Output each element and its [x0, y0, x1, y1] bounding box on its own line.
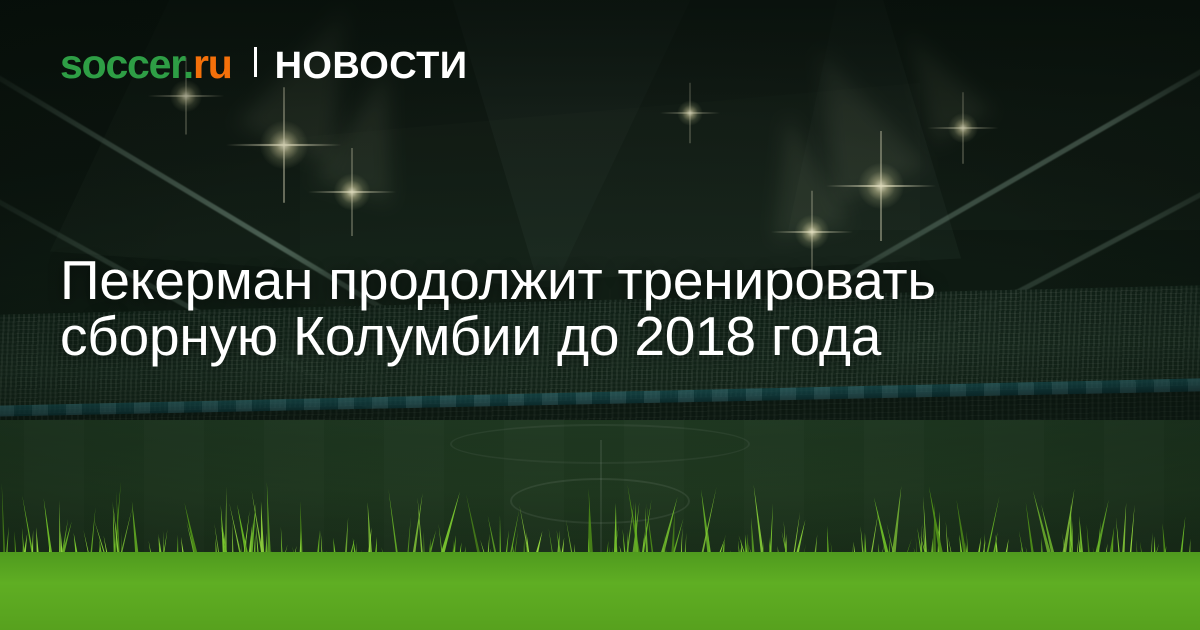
header-divider [254, 47, 257, 77]
news-share-card: soccer.ru НОВОСТИ Пекерман продолжит тре… [0, 0, 1200, 630]
site-header: soccer.ru НОВОСТИ [60, 44, 467, 85]
logo-dot-text: . [183, 41, 193, 87]
headline-line-1: Пекерман продолжит тренировать [60, 252, 1070, 308]
headline-line-2: сборную Колумбии до 2018 года [60, 308, 1070, 364]
article-headline: Пекерман продолжит тренировать сборную К… [60, 252, 1070, 364]
logo-name-text: soccer [60, 41, 183, 87]
section-label-novosti: НОВОСТИ [275, 47, 468, 85]
logo-tld-text: ru [193, 41, 232, 87]
card-content: soccer.ru НОВОСТИ Пекерман продолжит тре… [0, 0, 1200, 630]
soccer-ru-logo[interactable]: soccer.ru [60, 44, 232, 85]
